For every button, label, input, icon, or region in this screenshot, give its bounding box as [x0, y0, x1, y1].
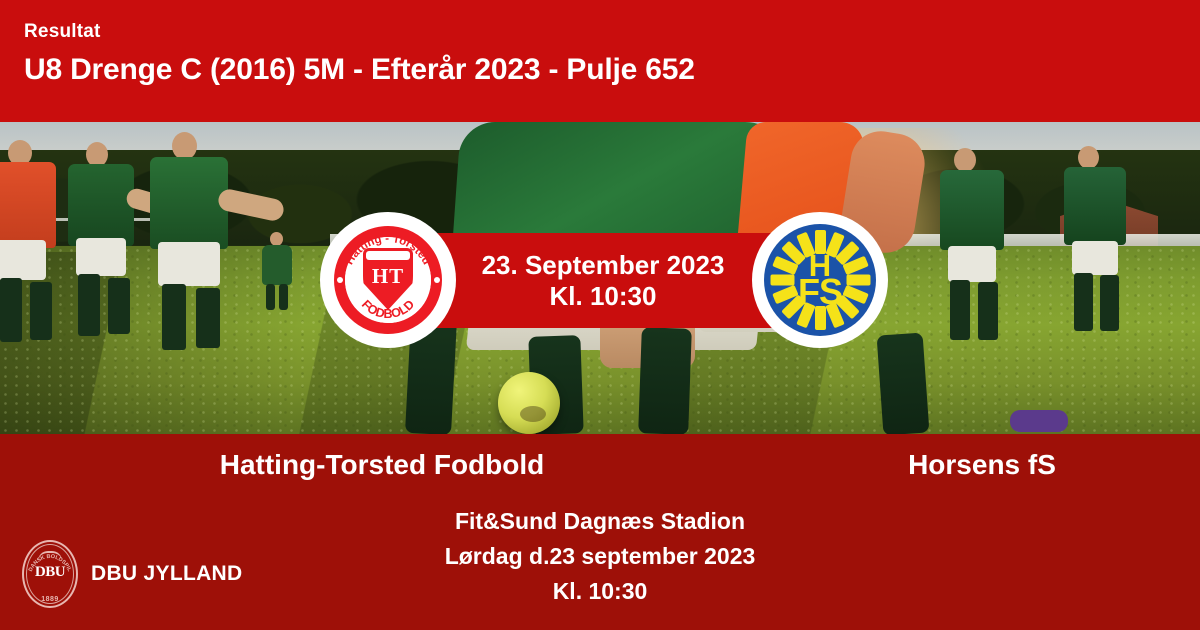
dbu-org-label: DBU JYLLAND — [91, 562, 242, 586]
photo-foreground-sock-d — [877, 333, 930, 434]
dbu-monogram: DBU — [22, 564, 78, 581]
photo-foreground-boot — [1010, 410, 1068, 432]
crest-shield-band — [366, 251, 410, 260]
venue-stadium: Fit&Sund Dagnæs Stadion — [0, 504, 1200, 539]
home-team-crest: Hatting - Torsted FODBOLD HT — [320, 212, 456, 348]
football-panel — [520, 406, 546, 422]
dbu-jylland-logo: DANSK BOLDSPIL DBU 1889 DBU JYLLAND — [22, 540, 242, 608]
match-date: 23. September 2023 — [482, 250, 725, 280]
match-result-card: Resultat U8 Drenge C (2016) 5M - Efterår… — [0, 0, 1200, 630]
horsens-fs-badge: H FS — [764, 224, 876, 336]
hatting-torsted-badge: Hatting - Torsted FODBOLD HT — [334, 226, 442, 334]
page-title: U8 Drenge C (2016) 5M - Efterår 2023 - P… — [24, 54, 1200, 86]
header-kicker: Resultat — [24, 22, 1200, 41]
away-team-name: Horsens fS — [764, 450, 1200, 481]
football-icon — [498, 372, 560, 434]
team-names-row: Hatting-Torsted Fodbold Horsens fS — [0, 450, 1200, 481]
photo-foreground-sock-c — [638, 327, 692, 434]
crest-initials: H FS — [764, 224, 876, 336]
dbu-seal-icon: DANSK BOLDSPIL DBU 1889 — [22, 540, 78, 608]
header-bar: Resultat U8 Drenge C (2016) 5M - Efterår… — [0, 0, 1200, 122]
away-team-crest: H FS — [752, 212, 888, 348]
home-team-name: Hatting-Torsted Fodbold — [0, 450, 764, 481]
crest-initials: HT — [363, 264, 413, 289]
match-time: Kl. 10:30 — [550, 281, 657, 311]
dbu-year: 1889 — [22, 596, 78, 603]
crest-initial-bottom: FS — [798, 277, 842, 307]
